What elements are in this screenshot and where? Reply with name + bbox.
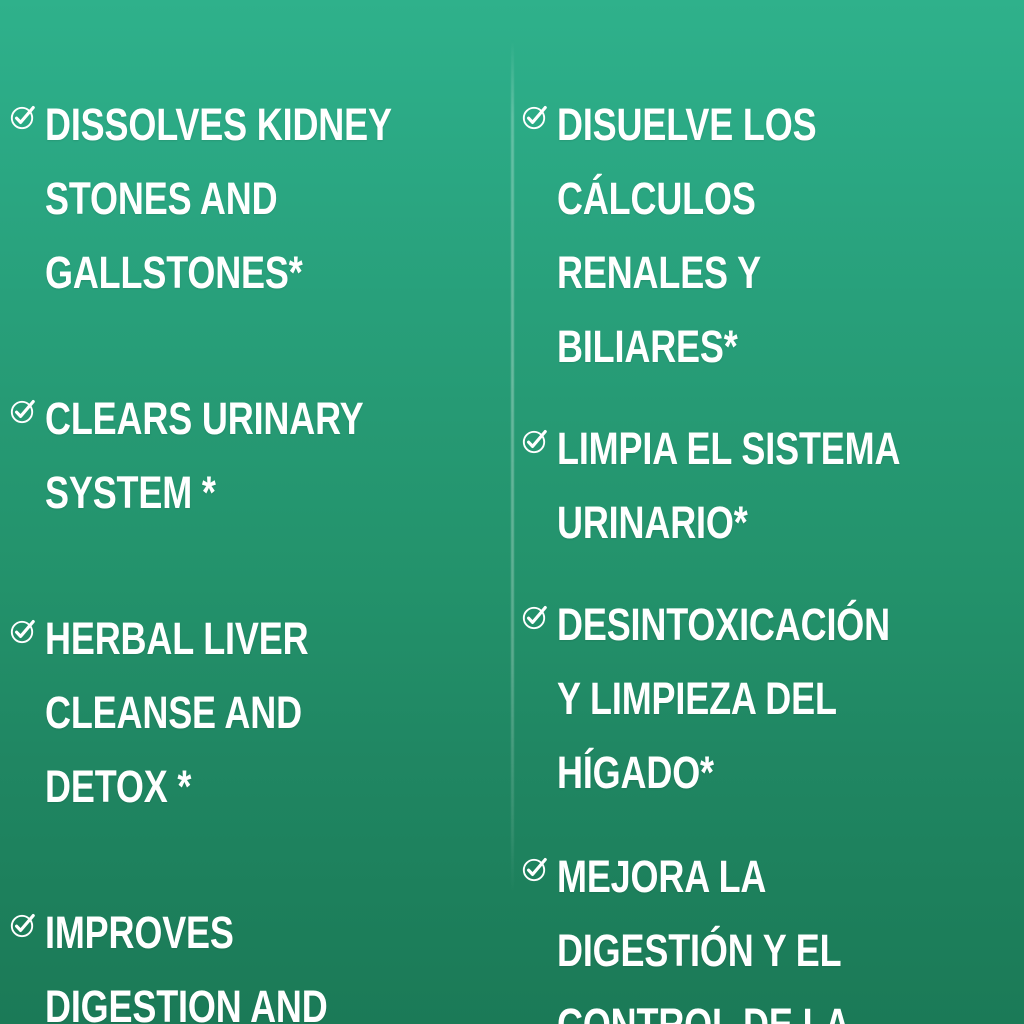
benefit-item: DISSOLVES KIDNEY STONES AND GALLSTONES* bbox=[8, 88, 494, 310]
check-circle-icon bbox=[520, 426, 550, 456]
check-circle-icon bbox=[520, 102, 550, 132]
benefit-item: DESINTOXICACIÓN Y LIMPIEZA DEL HÍGADO* bbox=[520, 588, 1004, 810]
benefit-label: MEJORA LA DIGESTIÓN Y EL CONTROL DE LA V… bbox=[557, 840, 915, 1024]
benefit-item: HERBAL LIVER CLEANSE AND DETOX * bbox=[8, 602, 494, 824]
check-circle-icon bbox=[8, 102, 38, 132]
benefit-label: LIMPIA EL SISTEMA URINARIO* bbox=[557, 412, 915, 560]
benefits-columns: DISSOLVES KIDNEY STONES AND GALLSTONES* … bbox=[0, 0, 1024, 1024]
benefit-label: CLEARS URINARY SYSTEM * bbox=[45, 382, 404, 530]
check-circle-icon bbox=[8, 910, 38, 940]
benefit-label: IMPROVES DIGESTION AND BLADDER CONTROL* bbox=[45, 896, 404, 1024]
benefit-label: DISSOLVES KIDNEY STONES AND GALLSTONES* bbox=[45, 88, 404, 310]
benefits-panel: DISSOLVES KIDNEY STONES AND GALLSTONES* … bbox=[0, 0, 1024, 1024]
benefit-label: DESINTOXICACIÓN Y LIMPIEZA DEL HÍGADO* bbox=[557, 588, 915, 810]
english-benefits-column: DISSOLVES KIDNEY STONES AND GALLSTONES* … bbox=[0, 0, 512, 1024]
benefit-item: DISUELVE LOS CÁLCULOS RENALES Y BILIARES… bbox=[520, 88, 1004, 384]
benefit-label: DISUELVE LOS CÁLCULOS RENALES Y BILIARES… bbox=[557, 88, 915, 384]
check-circle-icon bbox=[8, 616, 38, 646]
check-circle-icon bbox=[8, 396, 38, 426]
benefit-item: LIMPIA EL SISTEMA URINARIO* bbox=[520, 412, 1004, 560]
benefit-item: MEJORA LA DIGESTIÓN Y EL CONTROL DE LA V… bbox=[520, 840, 1004, 1024]
benefit-item: CLEARS URINARY SYSTEM * bbox=[8, 382, 494, 530]
spanish-benefits-column: DISUELVE LOS CÁLCULOS RENALES Y BILIARES… bbox=[512, 0, 1024, 1024]
check-circle-icon bbox=[520, 602, 550, 632]
benefit-item: IMPROVES DIGESTION AND BLADDER CONTROL* bbox=[8, 896, 494, 1024]
check-circle-icon bbox=[520, 854, 550, 884]
benefit-label: HERBAL LIVER CLEANSE AND DETOX * bbox=[45, 602, 404, 824]
